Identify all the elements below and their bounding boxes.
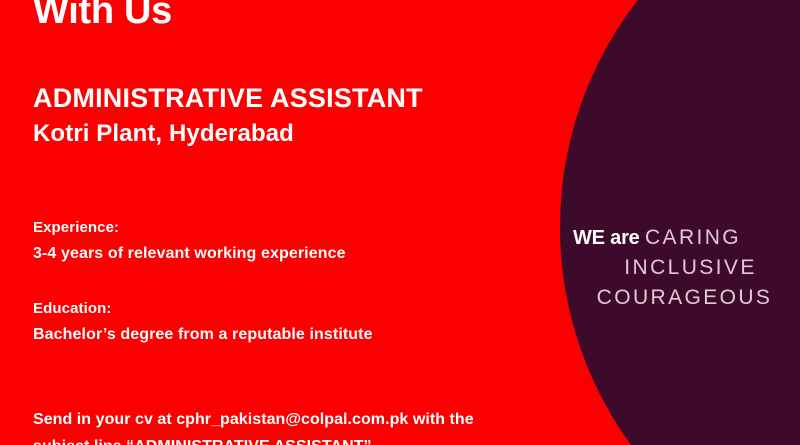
page-headline: With Us [33,0,172,34]
job-location: Kotri Plant, Hyderabad [33,119,294,149]
brand-values-line-2: INCLUSIVE [565,254,800,284]
job-advertisement-poster: With Us ADMINISTRATIVE ASSISTANT Kotri P… [0,0,800,445]
brand-value-caring: CARING [645,226,741,249]
education-value: Bachelor’s degree from a reputable insti… [33,322,373,348]
brand-value-inclusive: INCLUSIVE [624,256,756,279]
application-instructions-block: Send in your cv at cphr_pakistan@colpal.… [33,406,474,445]
education-label: Education: [33,296,373,322]
experience-value: 3-4 years of relevant working experience [33,241,346,267]
application-subject-line: subject line “ADMINISTRATIVE ASSISTANT” [33,433,474,445]
job-details-column: With Us ADMINISTRATIVE ASSISTANT Kotri P… [33,0,573,445]
brand-values-line-3: COURAGEOUS [565,284,800,314]
brand-values-line-1: WE are CARING [565,224,800,254]
brand-values-prefix: WE are [573,227,645,249]
job-title: ADMINISTRATIVE ASSISTANT [33,82,423,114]
experience-label: Experience: [33,215,346,241]
education-requirement-block: Education: Bachelor’s degree from a repu… [33,296,373,348]
brand-values-lockup: WE are CARING INCLUSIVE COURAGEOUS [565,224,800,314]
experience-requirement-block: Experience: 3-4 years of relevant workin… [33,215,346,267]
brand-circle-decoration [560,0,800,445]
brand-value-courageous: COURAGEOUS [597,286,773,309]
application-email-line: Send in your cv at cphr_pakistan@colpal.… [33,406,474,433]
